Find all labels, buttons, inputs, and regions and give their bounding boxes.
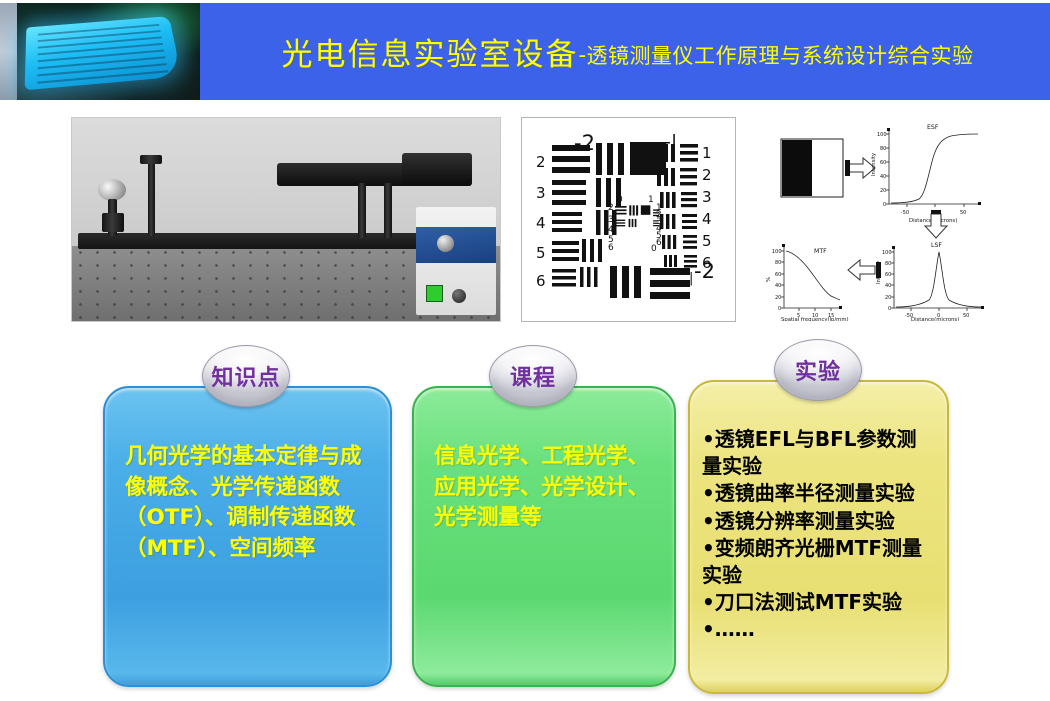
svg-text:4: 4 <box>608 225 614 235</box>
svg-text:50: 50 <box>963 313 969 319</box>
photo-post-2 <box>148 163 155 236</box>
panel-course[interactable]: 信息光学、工程光学、应用光学、光学设计、光学测量等 <box>412 386 676 687</box>
photo-post-base-1 <box>102 213 124 231</box>
svg-text:50: 50 <box>960 210 966 216</box>
photo-holder-2 <box>140 155 162 164</box>
svg-text:5: 5 <box>536 244 546 262</box>
page-title: 光电信息实验室设备 <box>281 29 578 74</box>
experiment-bullet: •变频朗齐光栅MTF测量实验 <box>702 535 935 589</box>
photo-rail <box>78 233 422 249</box>
svg-text:2: 2 <box>536 153 546 171</box>
svg-text:0: 0 <box>883 202 886 208</box>
svg-text:2: 2 <box>608 203 614 213</box>
bubble-course-label: 课程 <box>510 360 556 392</box>
panel-knowledge[interactable]: 几何光学的基本定律与成像概念、光学传递函数（OTF）、调制传递函数（MTF）、空… <box>103 386 392 687</box>
svg-text:20: 20 <box>885 295 891 301</box>
experiment-bullet: •…… <box>702 616 935 643</box>
svg-text:20: 20 <box>880 188 886 194</box>
photo-lamp-port <box>437 235 454 252</box>
logo-left-strip <box>0 3 17 100</box>
svg-text:80: 80 <box>885 261 891 267</box>
svg-text:40: 40 <box>775 283 781 289</box>
svg-text:4: 4 <box>536 214 546 232</box>
photo-post-3 <box>358 183 366 238</box>
svg-text:1: 1 <box>648 195 654 205</box>
bubble-experiment[interactable]: 实验 <box>774 339 862 401</box>
bubble-knowledge-label: 知识点 <box>211 360 280 392</box>
svg-text:3: 3 <box>608 215 614 225</box>
usaf-target-svg: -2 -| -2 | 234 56 123 456 <box>522 118 733 319</box>
experiment-bullet: •刀口法测试MTF实验 <box>702 589 935 616</box>
knife-edge-image <box>781 139 843 197</box>
svg-text:60: 60 <box>885 272 891 278</box>
lsf-xlabel: Distance(microns) <box>911 317 959 321</box>
mtf-ylabel: % <box>766 277 772 282</box>
svg-text:3: 3 <box>702 188 712 206</box>
panel-knowledge-text: 几何光学的基本定律与成像概念、光学传递函数（OTF）、调制传递函数（MTF）、空… <box>105 442 390 564</box>
svg-text:60: 60 <box>775 272 781 278</box>
lsf-title: LSF <box>931 242 942 249</box>
usaf-resolution-target: -2 -| -2 | 234 56 123 456 <box>521 117 736 322</box>
experiment-bullet: •透镜分辨率测量实验 <box>702 508 935 535</box>
svg-text:-50: -50 <box>901 210 909 216</box>
mtf-xlabel: Spatial frequency(lp/mm) <box>781 317 849 321</box>
svg-text:6: 6 <box>702 254 712 272</box>
optical-bench-photo <box>71 117 501 322</box>
experiment-bullet: •透镜曲率半径测量实验 <box>702 480 935 507</box>
svg-text:0: 0 <box>651 244 657 254</box>
bubble-knowledge[interactable]: 知识点 <box>202 345 290 407</box>
photo-lamp-band <box>416 227 496 264</box>
svg-text:1: 1 <box>702 144 712 162</box>
bubble-experiment-label: 实验 <box>795 354 841 386</box>
svg-text:6: 6 <box>656 238 662 248</box>
svg-text:100: 100 <box>877 132 887 138</box>
panel-experiment-list: •透镜EFL与BFL参数测量实验 •透镜曲率半径测量实验 •透镜分辨率测量实验 … <box>690 426 947 644</box>
esf-title: ESF <box>927 124 939 131</box>
svg-text:80: 80 <box>775 260 781 266</box>
mtf-title: MTF <box>814 248 827 255</box>
svg-text:40: 40 <box>880 174 886 180</box>
svg-text:100: 100 <box>772 249 782 255</box>
svg-text:0: 0 <box>888 306 891 312</box>
photo-post-4 <box>384 183 392 238</box>
header-logo-image <box>0 3 200 100</box>
svg-text:4: 4 <box>702 210 712 228</box>
photo-light-source-box <box>416 207 496 315</box>
svg-text:60: 60 <box>880 160 886 166</box>
slide-root: 光电信息实验室设备 - 透镜测量仪工作原理与系统设计综合实验 -2 -| <box>0 0 1050 701</box>
panel-course-text: 信息光学、工程光学、应用光学、光学设计、光学测量等 <box>414 442 674 534</box>
photo-power-indicator <box>426 285 443 302</box>
svg-text:100: 100 <box>882 250 892 256</box>
experiment-bullet: •透镜EFL与BFL参数测量实验 <box>702 426 935 480</box>
svg-text:0: 0 <box>778 306 781 312</box>
photo-camera-head <box>402 153 472 186</box>
svg-text:6: 6 <box>536 272 546 290</box>
esf-ylabel: Intensity <box>871 153 877 176</box>
usaf-label-top-left: -2 <box>574 131 595 155</box>
page-subtitle: 透镜测量仪工作原理与系统设计综合实验 <box>587 40 974 70</box>
svg-text:2: 2 <box>702 166 712 184</box>
svg-text:80: 80 <box>880 146 886 152</box>
bubble-course[interactable]: 课程 <box>489 345 577 407</box>
svg-text:40: 40 <box>885 283 891 289</box>
svg-text:3: 3 <box>536 184 546 202</box>
svg-text:0: 0 <box>617 195 623 205</box>
esf-lsf-mtf-svg: 1008060 40200 -50050 Distance(microns) I… <box>759 116 991 321</box>
photo-mirror-mount <box>98 179 126 201</box>
svg-text:6: 6 <box>608 243 614 253</box>
esf-lsf-mtf-diagram: 1008060 40200 -50050 Distance(microns) I… <box>759 116 991 321</box>
photo-brightness-dial <box>452 289 466 303</box>
svg-text:5: 5 <box>702 232 712 250</box>
panel-experiment[interactable]: •透镜EFL与BFL参数测量实验 •透镜曲率半径测量实验 •透镜分辨率测量实验 … <box>688 380 949 694</box>
header-title: 光电信息实验室设备 - 透镜测量仪工作原理与系统设计综合实验 <box>205 3 1050 100</box>
title-dash: - <box>578 43 586 67</box>
svg-text:20: 20 <box>775 295 781 301</box>
